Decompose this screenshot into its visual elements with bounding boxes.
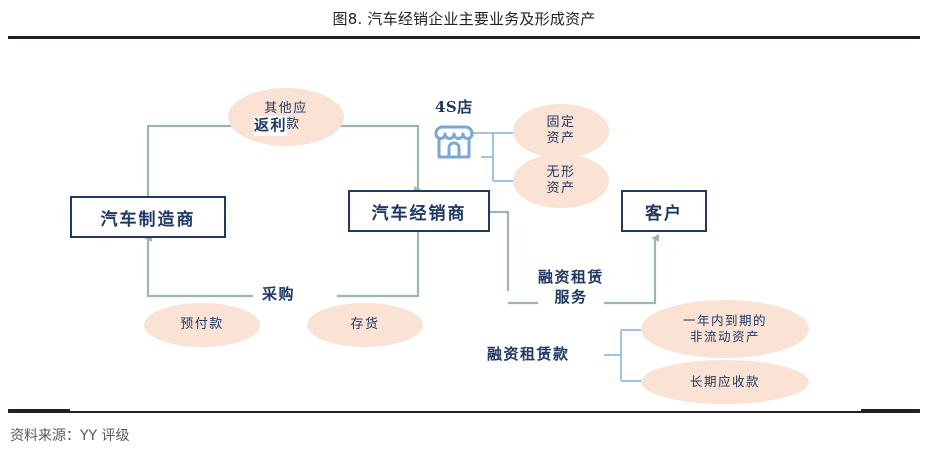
footer-rule-cap-left <box>8 409 70 412</box>
flow-label-leasing-service: 融资租赁 服务 <box>538 268 604 307</box>
asset-label-line1: 长期应收款 <box>690 374 760 390</box>
figure-title: 图8. 汽车经销企业主要业务及形成资产 <box>0 8 928 29</box>
asset-label-line1: 无形 <box>546 165 575 181</box>
shop-label-4s: 4S店 <box>435 96 473 117</box>
diagram-canvas: 其他应 收款 固定 资产 无形 资产 预付款 存货 一年内到期的 非流动资产 长… <box>0 42 928 408</box>
asset-label-line1: 一年内到期的 <box>683 313 767 329</box>
figure-page: 图8. 汽车经销企业主要业务及形成资产 <box>0 0 928 454</box>
node-label: 客户 <box>645 199 683 224</box>
asset-inventory[interactable]: 存货 <box>307 303 423 347</box>
asset-non-current-due-one-year[interactable]: 一年内到期的 非流动资产 <box>641 300 809 358</box>
asset-fixed-assets[interactable]: 固定 资产 <box>513 104 609 158</box>
asset-long-term-receivables[interactable]: 长期应收款 <box>641 360 809 404</box>
asset-label-line2: 非流动资产 <box>690 329 760 345</box>
asset-label-line1: 预付款 <box>180 317 224 333</box>
footer-rule-cap-right <box>861 409 920 412</box>
node-label: 汽车制造商 <box>101 205 196 230</box>
flow-label-line1: 融资租赁 <box>538 268 604 288</box>
node-dealer[interactable]: 汽车经销商 <box>348 190 490 232</box>
asset-label-line1: 固定 <box>546 115 575 131</box>
storefront-icon <box>430 117 478 165</box>
asset-label-line2: 资产 <box>546 131 575 147</box>
asset-label-line1: 存货 <box>350 317 379 333</box>
title-divider-rule <box>8 36 920 39</box>
asset-prepayments[interactable]: 预付款 <box>144 303 260 347</box>
flow-label-line2: 服务 <box>538 288 604 308</box>
node-label: 汽车经销商 <box>372 199 467 224</box>
flow-label-procurement: 采购 <box>262 285 295 305</box>
asset-intangible-assets[interactable]: 无形 资产 <box>513 154 609 208</box>
footer-divider-rule <box>8 411 920 413</box>
flow-label-rebate: 返利 <box>254 116 287 136</box>
source-note: 资料来源：YY 评级 <box>10 425 130 445</box>
node-manufacturer[interactable]: 汽车制造商 <box>70 196 226 238</box>
flow-label-leasing-receivable: 融资租赁款 <box>487 345 570 365</box>
asset-label-line2: 资产 <box>546 181 575 197</box>
node-customer[interactable]: 客户 <box>621 190 707 232</box>
asset-label-line1: 其他应 <box>264 101 308 117</box>
